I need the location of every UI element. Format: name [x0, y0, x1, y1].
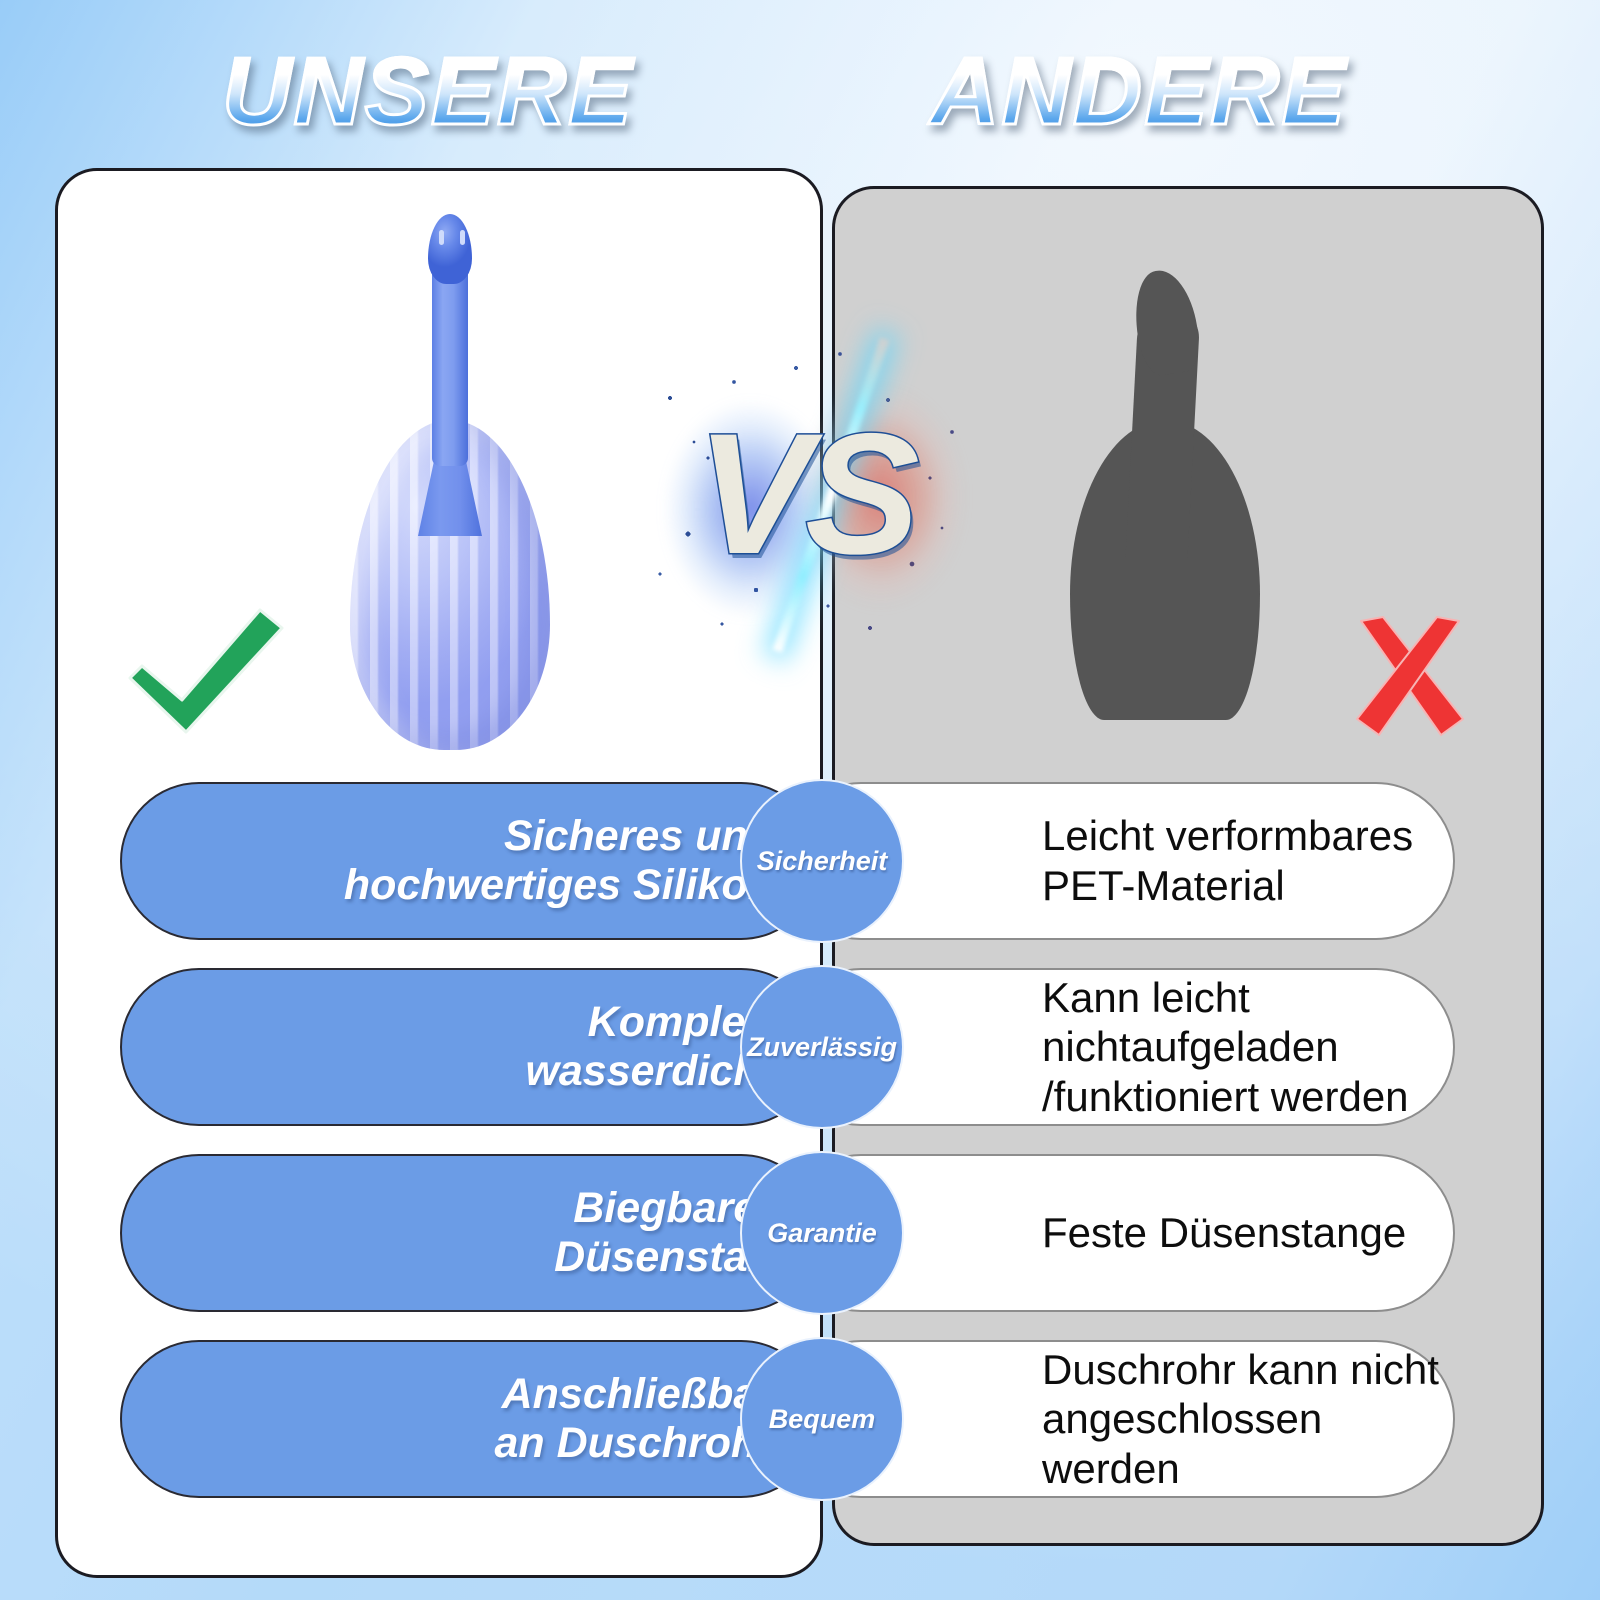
comparison-row: Leicht verformbares PET-Material Sichere… [120, 782, 1455, 940]
pill-ours-text: Sicheres und hochwertiges Silikon [344, 812, 774, 911]
pill-other-text: Leicht verformbares PET-Material [1042, 811, 1413, 910]
badge-label: Sicherheit [757, 846, 888, 877]
badge-label: Garantie [767, 1218, 877, 1249]
pill-other-text: Feste Düsenstange [1042, 1208, 1406, 1258]
pill-other-text: Duschrohr kann nicht angeschlossen werde… [1042, 1345, 1453, 1494]
comparison-row: Feste Düsenstange Biegbarer Düsenstab Ga… [120, 1154, 1455, 1312]
badge-sicherheit: Sicherheit [740, 779, 904, 943]
pill-ours-text: Anschließbar an Duschrohr [494, 1370, 774, 1469]
badge-label: Bequem [769, 1404, 876, 1435]
badge-bequem: Bequem [740, 1337, 904, 1501]
comparison-row: Kann leicht nichtaufgeladen /funktionier… [120, 968, 1455, 1126]
pill-ours: Komplett wasserdicht [120, 968, 820, 1126]
pill-ours: Anschließbar an Duschrohr [120, 1340, 820, 1498]
pill-ours-text: Komplett wasserdicht [525, 998, 774, 1097]
pill-ours: Sicheres und hochwertiges Silikon [120, 782, 820, 940]
comparison-infographic: UNSERE ANDERE [0, 0, 1600, 1600]
comparison-rows: Leicht verformbares PET-Material Sichere… [0, 0, 1600, 1600]
pill-other-text: Kann leicht nichtaufgeladen /funktionier… [1042, 973, 1453, 1122]
badge-zuverlaessig: Zuverlässig [740, 965, 904, 1129]
badge-label: Zuverlässig [747, 1032, 897, 1063]
comparison-row: Duschrohr kann nicht angeschlossen werde… [120, 1340, 1455, 1498]
badge-garantie: Garantie [740, 1151, 904, 1315]
pill-ours: Biegbarer Düsenstab [120, 1154, 820, 1312]
